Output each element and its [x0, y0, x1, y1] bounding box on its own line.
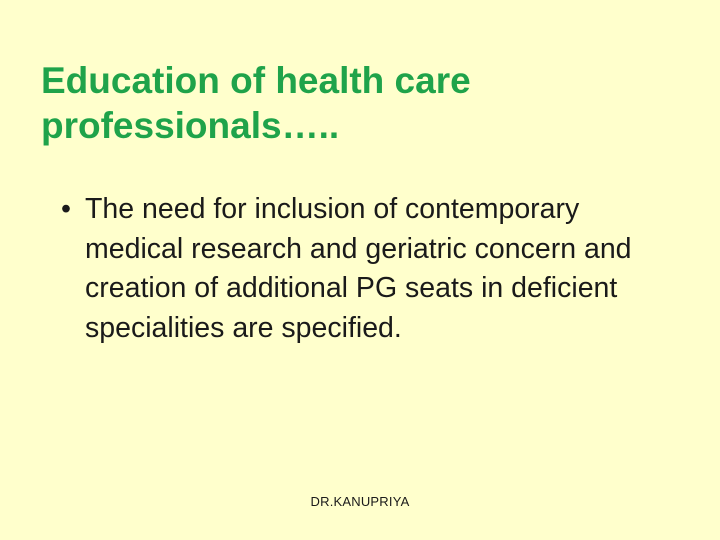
list-item: • The need for inclusion of contemporary… [56, 190, 666, 348]
slide-bullet-list: • The need for inclusion of contemporary… [56, 190, 666, 348]
presentation-slide: Education of health care professionals….… [0, 0, 720, 540]
slide-title: Education of health care professionals….… [41, 58, 661, 148]
bullet-point-icon: • [61, 190, 79, 230]
slide-footer-author: DR.KANUPRIYA [0, 494, 720, 510]
bullet-item-text: The need for inclusion of contemporary m… [85, 190, 666, 348]
